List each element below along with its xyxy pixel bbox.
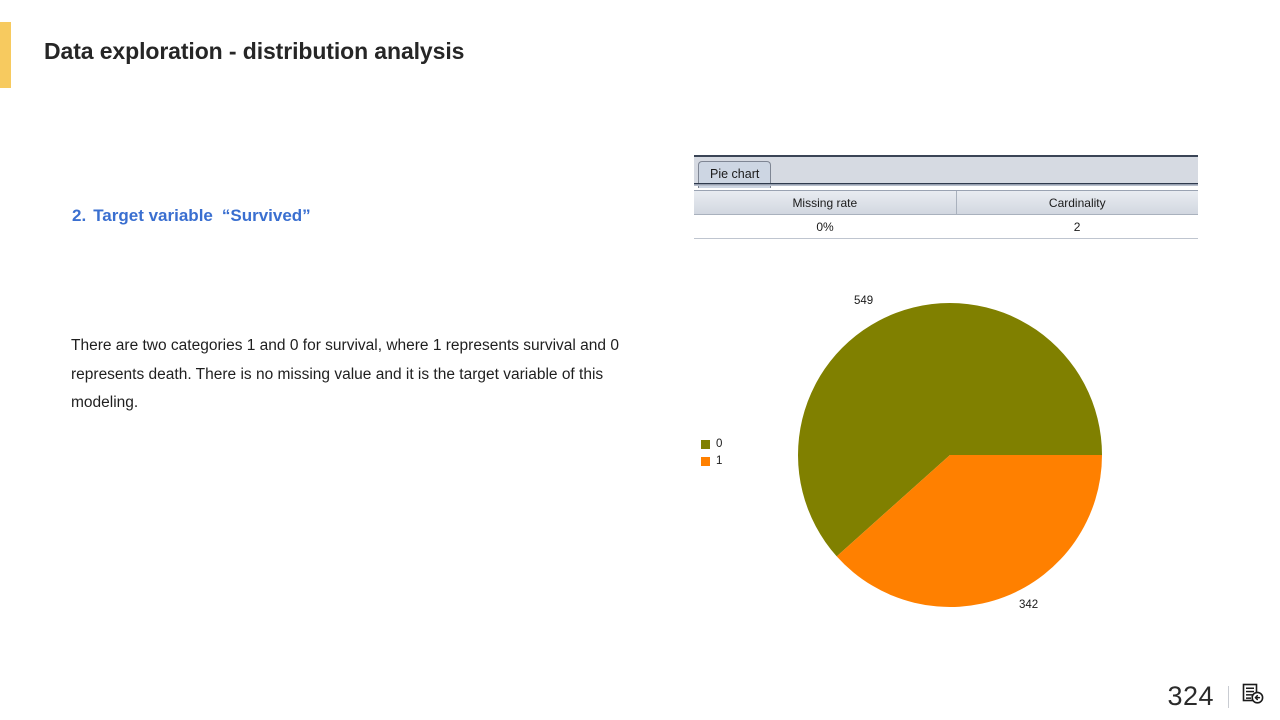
variable-meta-table: Missing rate Cardinality 0% 2 bbox=[694, 190, 1198, 239]
title-accent-bar bbox=[0, 22, 11, 88]
page-title: Data exploration - distribution analysis bbox=[44, 38, 464, 65]
table-row: 0% 2 bbox=[694, 215, 1198, 239]
tab-strip-underline bbox=[694, 183, 1198, 186]
subheading-number: 2. bbox=[72, 206, 86, 225]
legend-label-0: 0 bbox=[716, 439, 722, 450]
document-back-icon[interactable] bbox=[1242, 683, 1264, 710]
slide-footer: 324 bbox=[1167, 681, 1264, 712]
section-subheading: 2.Target variable“Survived” bbox=[72, 206, 311, 226]
subheading-text: Target variable bbox=[93, 206, 213, 225]
pie-chart-svg bbox=[694, 268, 1198, 648]
slice-value-label-1: 342 bbox=[1019, 599, 1038, 611]
table-header-row: Missing rate Cardinality bbox=[694, 191, 1198, 215]
legend-swatch-0 bbox=[701, 440, 710, 449]
chart-legend: 0 1 bbox=[701, 436, 722, 470]
cell-missing-rate: 0% bbox=[694, 215, 956, 238]
tab-strip: Pie chart bbox=[694, 155, 1198, 186]
cell-cardinality: 2 bbox=[956, 215, 1198, 238]
legend-item-1: 1 bbox=[701, 453, 722, 470]
pie-chart-container: 0 1 549 342 bbox=[694, 268, 1198, 648]
page-number: 324 bbox=[1167, 681, 1214, 712]
legend-item-0: 0 bbox=[701, 436, 722, 453]
subheading-quoted-term: “Survived” bbox=[222, 206, 311, 225]
slice-value-label-0: 549 bbox=[854, 295, 873, 307]
embedded-screenshot-panel: Pie chart Missing rate Cardinality 0% 2 bbox=[694, 155, 1198, 249]
column-header-missing-rate: Missing rate bbox=[694, 191, 957, 214]
legend-label-1: 1 bbox=[716, 456, 722, 467]
footer-divider bbox=[1228, 686, 1229, 708]
body-paragraph: There are two categories 1 and 0 for sur… bbox=[71, 332, 627, 418]
legend-swatch-1 bbox=[701, 457, 710, 466]
column-header-cardinality: Cardinality bbox=[957, 191, 1198, 214]
